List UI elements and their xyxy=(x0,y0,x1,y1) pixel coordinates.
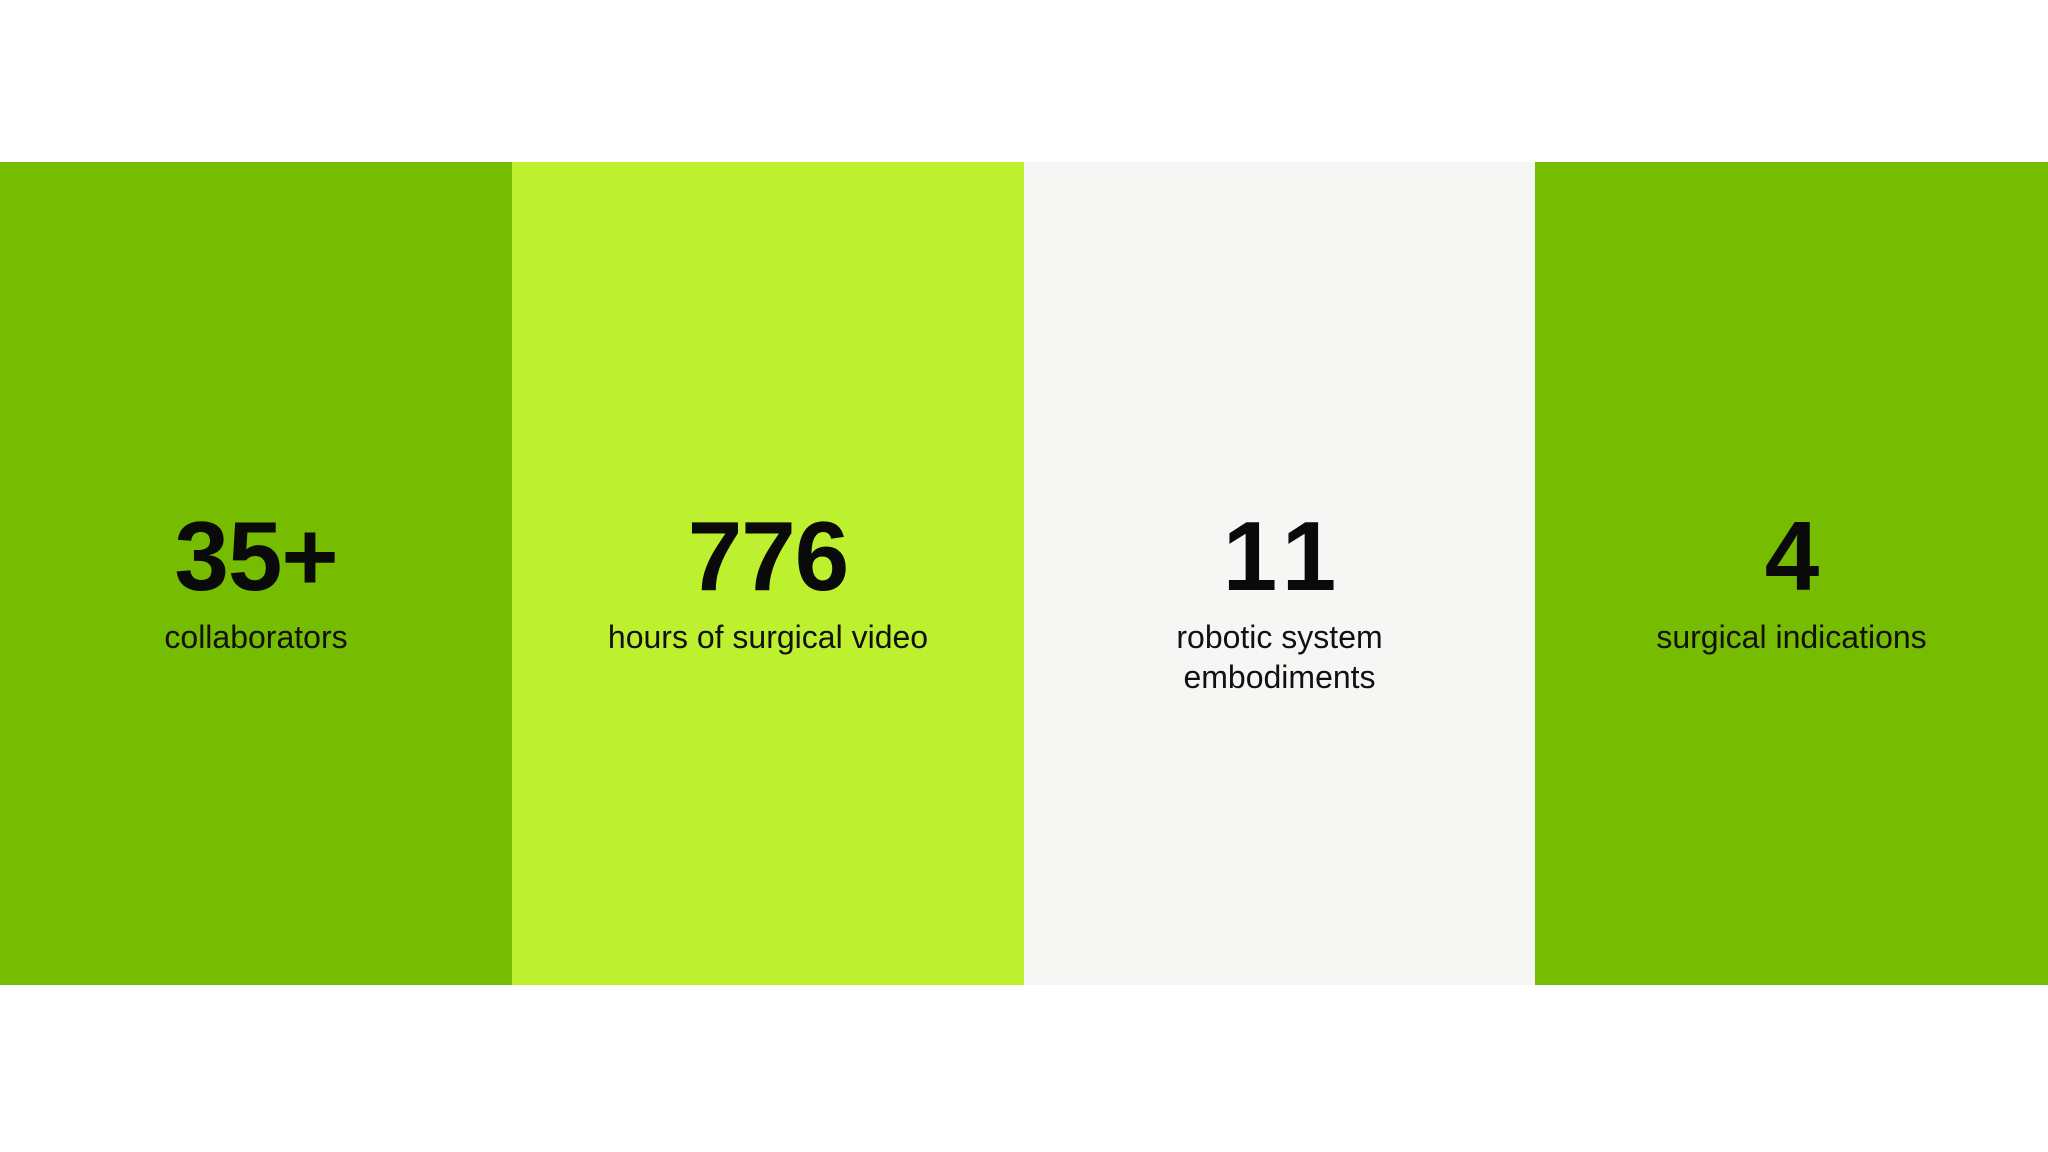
stat-value: 776 xyxy=(688,507,849,605)
stat-content: 4 surgical indications xyxy=(1535,507,2048,657)
stat-label: hours of surgical video xyxy=(608,617,928,657)
stats-banner-page: 35+ collaborators 776 hours of surgical … xyxy=(0,0,2048,1152)
stat-panel-collaborators: 35+ collaborators xyxy=(0,162,512,985)
stat-value: 4 xyxy=(1765,507,1819,605)
stat-content: 11 robotic system embodiments xyxy=(1024,507,1535,697)
stat-panel-robotic-system-embodiments: 11 robotic system embodiments xyxy=(1024,162,1535,985)
stat-label: robotic system embodiments xyxy=(1176,617,1382,697)
stat-panel-hours-of-surgical-video: 776 hours of surgical video xyxy=(512,162,1024,985)
stat-content: 35+ collaborators xyxy=(0,507,512,657)
stat-value: 35+ xyxy=(174,507,337,605)
stat-value: 11 xyxy=(1213,507,1347,605)
stat-content: 776 hours of surgical video xyxy=(512,507,1024,657)
stats-band: 35+ collaborators 776 hours of surgical … xyxy=(0,162,2048,985)
stat-panel-surgical-indications: 4 surgical indications xyxy=(1535,162,2048,985)
stat-label: collaborators xyxy=(164,617,347,657)
stat-label: surgical indications xyxy=(1656,617,1926,657)
